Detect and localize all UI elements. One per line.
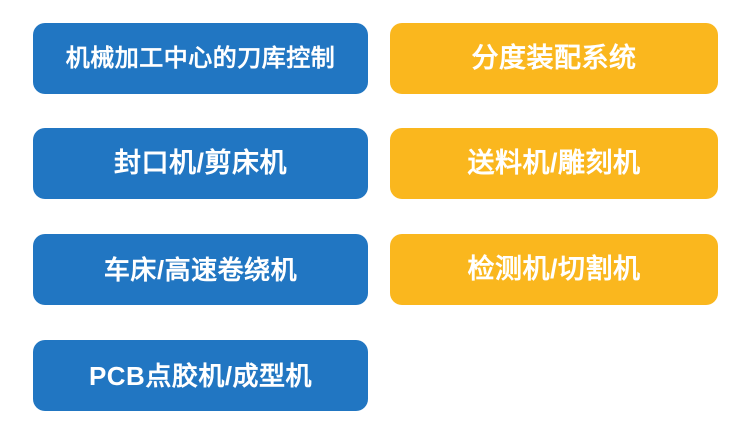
category-button-lathe-high-speed-winding-machine[interactable]: 车床/高速卷绕机	[33, 234, 368, 305]
category-button-label: 检测机/切割机	[457, 256, 650, 283]
category-button-label: 分度装配系统	[462, 45, 647, 72]
category-button-label: 送料机/雕刻机	[457, 150, 650, 177]
category-button-label: PCB点胶机/成型机	[79, 363, 322, 389]
category-button-sealing-machine-shearing-machine[interactable]: 封口机/剪床机	[33, 128, 368, 199]
category-button-inspection-machine-cutting-machine[interactable]: 检测机/切割机	[390, 234, 718, 305]
category-button-pcb-dispenser-forming-machine[interactable]: PCB点胶机/成型机	[33, 340, 368, 411]
category-button-machining-center-tool-magazine-control[interactable]: 机械加工中心的刀库控制	[33, 23, 368, 94]
category-button-label: 机械加工中心的刀库控制	[56, 47, 346, 71]
category-button-indexing-assembly-system[interactable]: 分度装配系统	[390, 23, 718, 94]
category-button-label: 车床/高速卷绕机	[94, 257, 307, 283]
category-button-label: 封口机/剪床机	[104, 150, 297, 177]
button-grid: 机械加工中心的刀库控制 封口机/剪床机 车床/高速卷绕机 PCB点胶机/成型机 …	[0, 0, 750, 429]
category-button-feeder-engraving-machine[interactable]: 送料机/雕刻机	[390, 128, 718, 199]
